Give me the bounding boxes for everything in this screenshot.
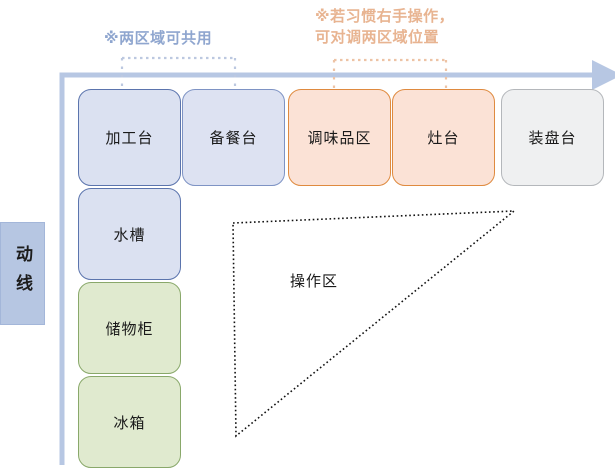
zone-label: 冰箱 [113,412,145,433]
zone-stove[interactable]: 灶台 [392,89,495,186]
zone-prep-counter[interactable]: 加工台 [78,89,181,186]
zone-sink[interactable]: 水槽 [78,188,181,280]
flow-line-label: 动线 [14,245,31,303]
zone-plating-counter[interactable]: 装盘台 [501,89,604,186]
zone-serving-counter[interactable]: 备餐台 [182,89,285,186]
bracket-shared-zones [122,58,235,92]
zone-label: 调味品区 [307,127,371,148]
flow-line-sidebar: 动线 [0,222,45,325]
annotation-shared-zones: ※两区域可共用 [104,28,274,49]
zone-label: 备餐台 [209,127,257,148]
zone-label: 加工台 [105,127,153,148]
zone-refrigerator[interactable]: 冰箱 [78,376,181,468]
kitchen-layout-diagram: ※两区域可共用 ※若习惯右手操作， 可对调两区域位置 动线 加工台 备餐台 调味… [0,0,615,476]
zone-label: 水槽 [113,224,145,245]
zone-label: 储物柜 [105,318,153,339]
zone-seasoning-area[interactable]: 调味品区 [288,89,391,186]
zone-storage-cabinet[interactable]: 储物柜 [78,282,181,374]
zone-label: 装盘台 [528,127,576,148]
zone-label: 灶台 [427,127,459,148]
annotation-right-hand: ※若习惯右手操作， 可对调两区域位置 [315,6,495,48]
work-area-label: 操作区 [290,270,338,291]
bracket-right-hand-zones [334,60,446,92]
work-area-triangle [233,211,514,436]
